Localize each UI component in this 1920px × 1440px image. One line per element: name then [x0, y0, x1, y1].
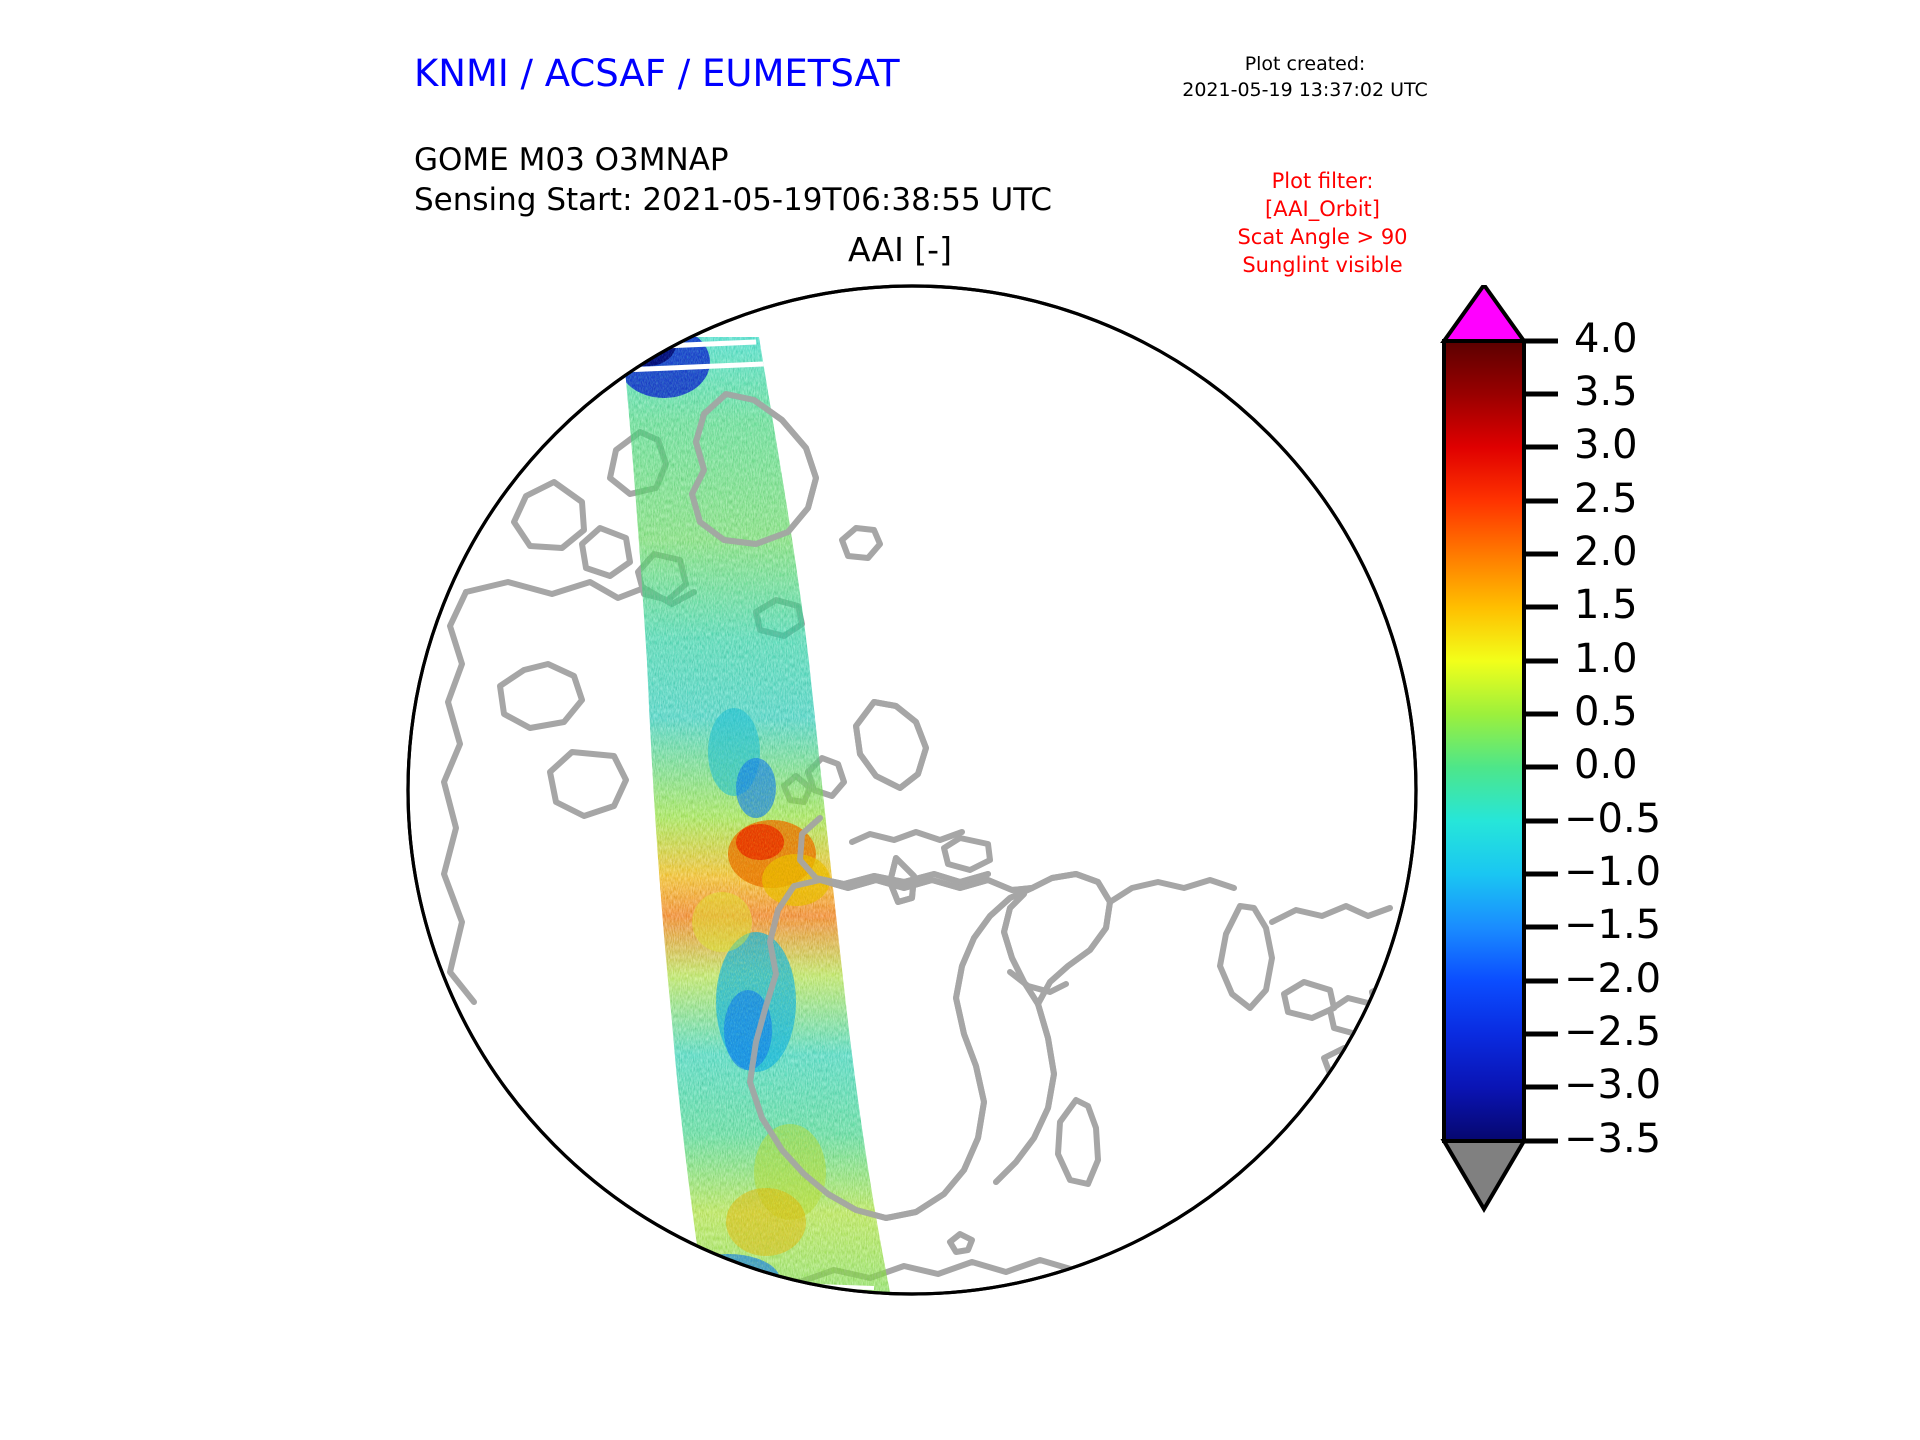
cb-label-1: 3.5 [1574, 369, 1638, 415]
cb-label-2: 3.0 [1574, 422, 1638, 468]
colorbar: 4.0 3.5 3.0 2.5 2.0 1.5 1.0 0.5 0.0 −0.5… [1432, 285, 1832, 1350]
plot-created-label: Plot created: [1150, 52, 1460, 78]
cb-label-13: −2.5 [1564, 1009, 1661, 1055]
sensing-start-line: Sensing Start: 2021-05-19T06:38:55 UTC [414, 180, 1052, 220]
cb-label-12: −2.0 [1564, 956, 1661, 1002]
cb-label-7: 0.5 [1574, 689, 1638, 735]
colorbar-under-arrow [1444, 1141, 1524, 1209]
plot-created-block: Plot created: 2021-05-19 13:37:02 UTC [1150, 52, 1460, 103]
instrument-line: GOME M03 O3MNAP [414, 140, 1052, 180]
cb-label-8: 0.0 [1574, 742, 1638, 788]
globe-disc [408, 286, 1416, 1294]
cb-label-11: −1.5 [1564, 902, 1661, 948]
cb-label-5: 1.5 [1574, 582, 1638, 628]
cb-label-6: 1.0 [1574, 636, 1638, 682]
colorbar-tick-labels: 4.0 3.5 3.0 2.5 2.0 1.5 1.0 0.5 0.0 −0.5… [1564, 316, 1661, 1162]
cb-label-0: 4.0 [1574, 316, 1638, 362]
globe-map [404, 282, 1420, 1298]
colorbar-gradient [1444, 341, 1524, 1141]
cb-label-4: 2.0 [1574, 529, 1638, 575]
plot-filter-line-1: [AAI_Orbit] [1185, 196, 1460, 224]
plot-filter-line-3: Sunglint visible [1185, 252, 1460, 280]
plot-created-timestamp: 2021-05-19 13:37:02 UTC [1150, 78, 1460, 104]
cb-label-3: 2.5 [1574, 476, 1638, 522]
plot-filter-title: Plot filter: [1185, 168, 1460, 196]
cb-label-10: −1.0 [1564, 849, 1661, 895]
product-info-block: GOME M03 O3MNAP Sensing Start: 2021-05-1… [414, 140, 1052, 221]
plot-filter-block: Plot filter: [AAI_Orbit] Scat Angle > 90… [1185, 168, 1460, 280]
cb-label-14: −3.0 [1564, 1062, 1661, 1108]
page-title: AAI [-] [700, 230, 1100, 269]
colorbar-ticks [1524, 341, 1558, 1141]
cb-label-9: −0.5 [1564, 796, 1661, 842]
organisation-title: KNMI / ACSAF / EUMETSAT [414, 52, 900, 95]
plot-filter-line-2: Scat Angle > 90 [1185, 224, 1460, 252]
cb-label-15: −3.5 [1564, 1116, 1661, 1162]
